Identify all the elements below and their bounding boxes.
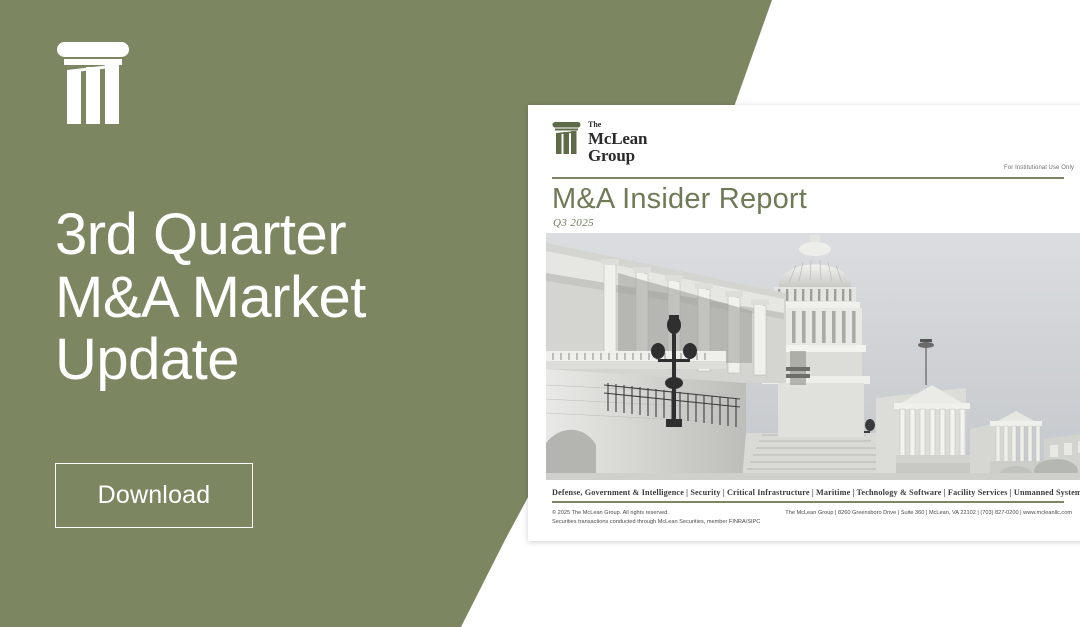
sector-list: Defense, Government & Intelligence | Sec… xyxy=(552,488,1072,497)
header-divider xyxy=(552,177,1064,179)
hero-content: 3rd Quarter M&A Market Update xyxy=(55,40,485,392)
report-title: M&A Insider Report xyxy=(552,185,807,214)
securities-disclosure-line: Securities transactions conducted throug… xyxy=(552,518,760,527)
column-logo-icon xyxy=(55,40,485,126)
copyright-line: © 2025 The McLean Group. All rights rese… xyxy=(552,509,760,518)
cover-brand-lockup: The McLean Group xyxy=(552,121,647,165)
footer-divider xyxy=(552,501,1064,503)
company-address-line: The McLean Group | 8260 Greensboro Drive… xyxy=(785,509,1072,518)
brand-word-mclean: McLean xyxy=(588,130,647,147)
report-cover-card[interactable]: The McLean Group For Institutional Use O… xyxy=(528,105,1080,541)
brand-word-group: Group xyxy=(588,147,647,164)
column-logo-icon xyxy=(552,121,581,155)
download-button[interactable]: Download xyxy=(55,463,253,528)
promo-banner: 3rd Quarter M&A Market Update Download xyxy=(0,0,1080,627)
report-subtitle: Q3 2025 xyxy=(553,217,594,229)
capitol-building-photo xyxy=(546,233,1080,480)
brand-word-the: The xyxy=(588,121,647,129)
institutional-use-note: For Institutional Use Only xyxy=(1004,165,1074,171)
page-title: 3rd Quarter M&A Market Update xyxy=(55,204,485,392)
cover-footer: © 2025 The McLean Group. All rights rese… xyxy=(552,509,1072,527)
